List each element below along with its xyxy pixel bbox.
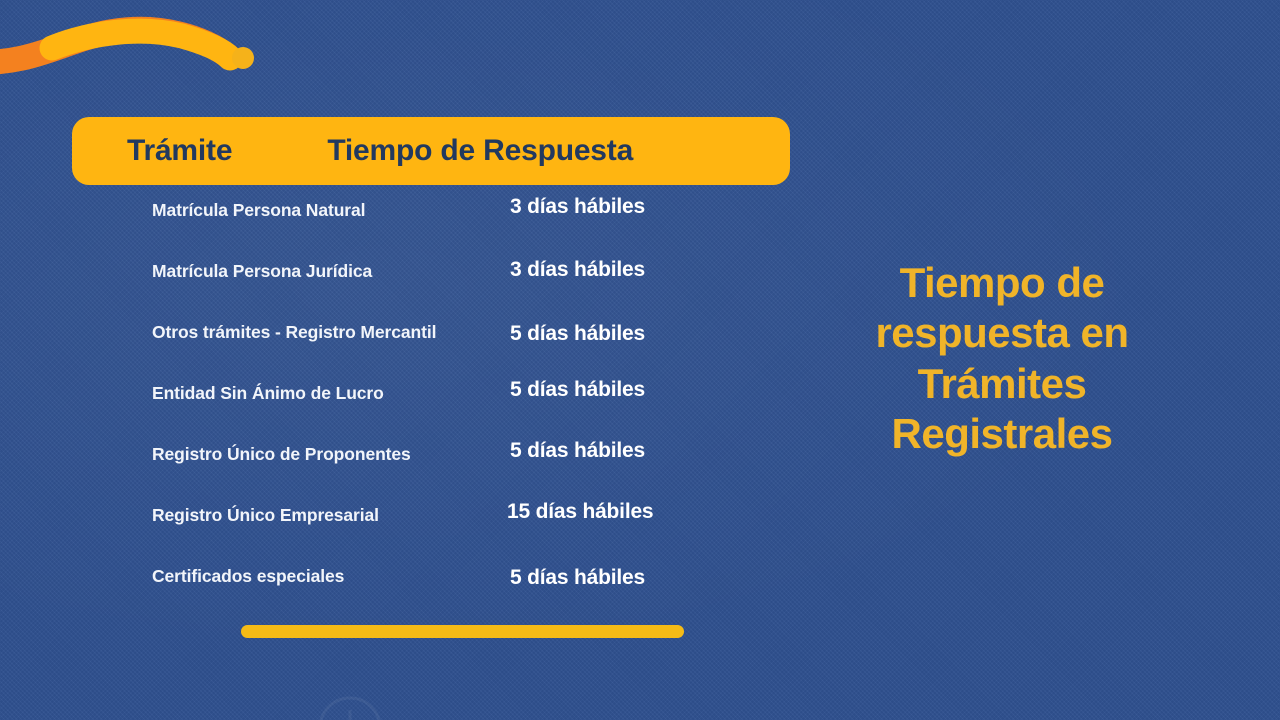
table-row: Otros trámites - Registro Mercantil 5 dí… [152, 318, 752, 379]
swoosh-stroke-dark-icon [0, 29, 228, 62]
table-row: Matrícula Persona Natural 3 días hábiles [152, 196, 752, 257]
slide-title: Tiempo de respuesta en Trámites Registra… [812, 258, 1192, 460]
tramites-table: Matrícula Persona Natural 3 días hábiles… [152, 196, 752, 623]
row-tramite-label: Certificados especiales [152, 562, 510, 590]
row-tiempo-value: 5 días hábiles [510, 564, 645, 588]
watermark-logo-icon [310, 688, 390, 720]
slide-canvas: Trámite Tiempo de Respuesta Matrícula Pe… [0, 0, 1280, 720]
row-tramite-label: Registro Único de Proponentes [152, 440, 510, 468]
table-row: Certificados especiales 5 días hábiles [152, 562, 752, 623]
row-tiempo-value: 15 días hábiles [507, 498, 653, 522]
table-row: Registro Único Empresarial 15 días hábil… [152, 501, 752, 562]
row-tiempo-value: 5 días hábiles [510, 437, 645, 461]
table-row: Matrícula Persona Jurídica 3 días hábile… [152, 257, 752, 318]
table-row: Registro Único de Proponentes 5 días háb… [152, 440, 752, 501]
row-tiempo-value: 3 días hábiles [510, 256, 645, 280]
swoosh-decoration [0, 4, 262, 86]
swoosh-dot-icon [232, 47, 254, 69]
row-tramite-label: Registro Único Empresarial [152, 501, 510, 529]
table-header-bar: Trámite Tiempo de Respuesta [72, 117, 790, 185]
row-tiempo-value: 5 días hábiles [510, 376, 645, 400]
row-tramite-label: Matrícula Persona Natural [152, 196, 510, 224]
row-tramite-label: Entidad Sin Ánimo de Lucro [152, 379, 510, 407]
row-tiempo-value: 3 días hábiles [510, 193, 645, 217]
swoosh-stroke-light-icon [52, 31, 230, 58]
table-header-tramite: Trámite [127, 134, 232, 168]
table-row: Entidad Sin Ánimo de Lucro 5 días hábile… [152, 379, 752, 440]
accent-underline-bar [241, 625, 684, 638]
table-header-tiempo: Tiempo de Respuesta [327, 134, 633, 168]
row-tramite-label: Matrícula Persona Jurídica [152, 257, 510, 285]
row-tiempo-value: 5 días hábiles [510, 320, 645, 344]
row-tramite-label: Otros trámites - Registro Mercantil [152, 318, 510, 346]
